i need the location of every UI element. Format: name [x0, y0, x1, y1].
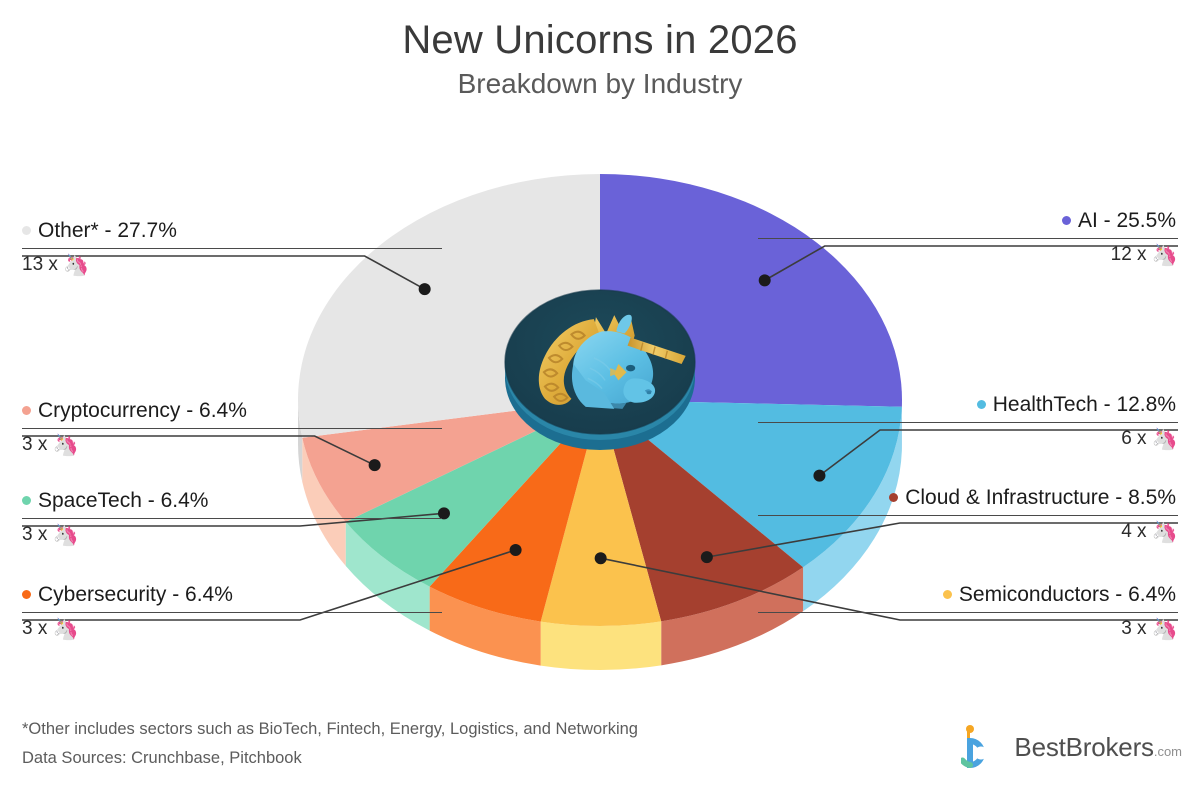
unicorn-icon: 🦄 — [1152, 244, 1178, 267]
unicorn-icon: 🦄 — [53, 618, 79, 641]
count-multiplier-cloud: 4 x — [1121, 521, 1146, 542]
callout-label-healthtech: HealthTech - 12.8% — [993, 393, 1176, 416]
callout-count-other: 13 x 🦄 — [22, 249, 442, 280]
unicorn-medallion-icon — [505, 290, 695, 450]
callout-label-ai: AI - 25.5% — [1078, 209, 1176, 232]
count-multiplier-cybersecurity: 3 x — [22, 618, 47, 639]
callout-count-cloud: 4 x 🦄 — [758, 516, 1178, 547]
callout-title-semiconductors: Semiconductors - 6.4% — [758, 582, 1178, 612]
count-multiplier-healthtech: 6 x — [1121, 428, 1146, 449]
callout-label-cloud: Cloud & Infrastructure - 8.5% — [905, 486, 1176, 509]
callout-label-cryptocurrency: Cryptocurrency - 6.4% — [38, 399, 247, 422]
count-multiplier-semiconductors: 3 x — [1121, 618, 1146, 639]
legend-dot-cloud — [889, 493, 898, 502]
callout-cryptocurrency: Cryptocurrency - 6.4% 3 x 🦄 — [22, 398, 442, 461]
callout-title-ai: AI - 25.5% — [758, 208, 1178, 238]
legend-dot-spacetech — [22, 496, 31, 505]
callout-title-spacetech: SpaceTech - 6.4% — [22, 488, 442, 518]
bestbrokers-logo[interactable]: BestBrokers.com — [961, 725, 1182, 769]
legend-dot-cryptocurrency — [22, 406, 31, 415]
count-multiplier-other: 13 x — [22, 254, 58, 275]
logo-name: BestBrokers — [1014, 732, 1153, 762]
legend-dot-ai — [1062, 216, 1071, 225]
leader-dot-cloud — [701, 551, 713, 563]
unicorn-icon: 🦄 — [53, 524, 79, 547]
bestbrokers-mark-icon — [961, 725, 1005, 769]
callout-label-cybersecurity: Cybersecurity - 6.4% — [38, 583, 233, 606]
unicorn-icon: 🦄 — [1152, 428, 1178, 451]
callout-title-cloud: Cloud & Infrastructure - 8.5% — [758, 485, 1178, 515]
legend-dot-other — [22, 226, 31, 235]
leader-dot-cryptocurrency — [369, 459, 381, 471]
leader-dot-semiconductors — [595, 552, 607, 564]
callout-label-semiconductors: Semiconductors - 6.4% — [959, 583, 1176, 606]
callout-cybersecurity: Cybersecurity - 6.4% 3 x 🦄 — [22, 582, 442, 645]
leader-dot-cybersecurity — [510, 544, 522, 556]
callout-count-cryptocurrency: 3 x 🦄 — [22, 429, 442, 460]
callout-cloud: Cloud & Infrastructure - 8.5% 4 x 🦄 — [758, 485, 1178, 548]
logo-tld: .com — [1154, 744, 1182, 759]
pie-side-semiconductors — [541, 621, 662, 670]
leader-dot-healthtech — [813, 470, 825, 482]
leader-dot-other — [419, 283, 431, 295]
callout-count-semiconductors: 3 x 🦄 — [758, 613, 1178, 644]
callout-healthtech: HealthTech - 12.8% 6 x 🦄 — [758, 392, 1178, 455]
callout-title-cryptocurrency: Cryptocurrency - 6.4% — [22, 398, 442, 428]
unicorn-icon: 🦄 — [63, 254, 89, 277]
legend-dot-semiconductors — [943, 590, 952, 599]
callout-count-spacetech: 3 x 🦄 — [22, 519, 442, 550]
leader-dot-ai — [759, 274, 771, 286]
callout-label-spacetech: SpaceTech - 6.4% — [38, 489, 208, 512]
count-multiplier-spacetech: 3 x — [22, 524, 47, 545]
callout-title-healthtech: HealthTech - 12.8% — [758, 392, 1178, 422]
callout-count-healthtech: 6 x 🦄 — [758, 423, 1178, 454]
chart-page: New Unicorns in 2026 Breakdown by Indust… — [0, 0, 1200, 795]
callout-title-cybersecurity: Cybersecurity - 6.4% — [22, 582, 442, 612]
footnote-other: *Other includes sectors such as BioTech,… — [22, 715, 638, 744]
count-multiplier-ai: 12 x — [1111, 244, 1147, 265]
callout-count-cybersecurity: 3 x 🦄 — [22, 613, 442, 644]
unicorn-icon: 🦄 — [53, 434, 79, 457]
unicorn-icon: 🦄 — [1152, 618, 1178, 641]
logo-wordmark: BestBrokers.com — [1014, 732, 1182, 763]
callout-title-other: Other* - 27.7% — [22, 218, 442, 248]
legend-dot-cybersecurity — [22, 590, 31, 599]
callout-count-ai: 12 x 🦄 — [758, 239, 1178, 270]
count-multiplier-cryptocurrency: 3 x — [22, 434, 47, 455]
callout-ai: AI - 25.5% 12 x 🦄 — [758, 208, 1178, 271]
footnotes: *Other includes sectors such as BioTech,… — [22, 715, 638, 773]
unicorn-icon: 🦄 — [1152, 521, 1178, 544]
footnote-sources: Data Sources: Crunchbase, Pitchbook — [22, 744, 638, 773]
legend-dot-healthtech — [977, 400, 986, 409]
callout-spacetech: SpaceTech - 6.4% 3 x 🦄 — [22, 488, 442, 551]
callout-other: Other* - 27.7% 13 x 🦄 — [22, 218, 442, 281]
callout-semiconductors: Semiconductors - 6.4% 3 x 🦄 — [758, 582, 1178, 645]
callout-label-other: Other* - 27.7% — [38, 219, 177, 242]
